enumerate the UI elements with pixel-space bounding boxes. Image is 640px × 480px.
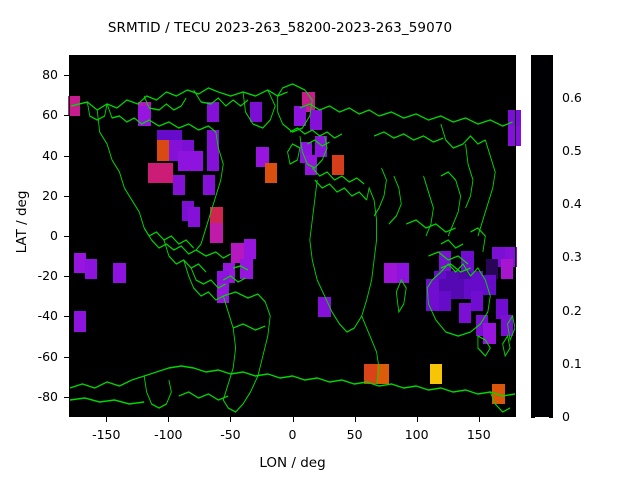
y-tick-mark (64, 196, 69, 197)
x-tick-label: 0 (263, 427, 323, 442)
y-tick-label: -60 (12, 349, 58, 364)
colorbar-tick-mark (549, 257, 553, 258)
coastline-overlay (70, 56, 515, 416)
colorbar-tick-mark (531, 311, 535, 312)
y-tick-mark (64, 316, 69, 317)
y-tick-label: -40 (12, 308, 58, 323)
colorbar-tick-mark (531, 257, 535, 258)
y-tick-label: 80 (12, 67, 58, 82)
colorbar-tick-label: 0.4 (562, 196, 582, 211)
figure-root: SRMTID / TECU 2023-263_58200-2023-263_59… (0, 0, 640, 480)
colorbar-tick-label: 0 (562, 409, 570, 424)
colorbar-tick-label: 0.2 (562, 303, 582, 318)
y-tick-mark (64, 115, 69, 116)
x-tick-label: -100 (138, 427, 198, 442)
colorbar-tick-mark (549, 364, 553, 365)
colorbar-tick-mark (531, 98, 535, 99)
colorbar-tick-mark (531, 204, 535, 205)
colorbar-tick-mark (549, 311, 553, 312)
x-tick-mark (168, 417, 169, 422)
colorbar-tick-mark (549, 417, 553, 418)
colorbar-tick-label: 0.3 (562, 249, 582, 264)
figure-title: SRMTID / TECU 2023-263_58200-2023-263_59… (0, 20, 560, 36)
colorbar (531, 55, 553, 417)
colorbar-tick-mark (549, 204, 553, 205)
x-tick-label: 150 (449, 427, 509, 442)
x-tick-label: -150 (76, 427, 136, 442)
y-axis-title: LAT / deg (14, 152, 30, 292)
colorbar-tick-mark (531, 364, 535, 365)
x-tick-mark (230, 417, 231, 422)
y-tick-label: 60 (12, 107, 58, 122)
x-tick-mark (417, 417, 418, 422)
x-tick-label: 100 (387, 427, 447, 442)
x-axis-title: LON / deg (69, 455, 516, 471)
colorbar-tick-mark (549, 151, 553, 152)
map-plot-area (69, 55, 516, 417)
colorbar-gradient (532, 56, 552, 416)
x-tick-mark (355, 417, 356, 422)
y-tick-mark (64, 156, 69, 157)
y-tick-mark (64, 75, 69, 76)
colorbar-tick-label: 0.5 (562, 143, 582, 158)
y-tick-mark (64, 276, 69, 277)
x-tick-label: 50 (325, 427, 385, 442)
x-tick-mark (106, 417, 107, 422)
colorbar-tick-mark (531, 417, 535, 418)
y-tick-mark (64, 357, 69, 358)
x-tick-mark (293, 417, 294, 422)
colorbar-tick-mark (531, 151, 535, 152)
colorbar-tick-label: 0.6 (562, 90, 582, 105)
x-tick-mark (479, 417, 480, 422)
y-tick-mark (64, 397, 69, 398)
colorbar-tick-mark (549, 98, 553, 99)
y-tick-label: -80 (12, 389, 58, 404)
y-tick-mark (64, 236, 69, 237)
colorbar-tick-label: 0.1 (562, 356, 582, 371)
x-tick-label: -50 (200, 427, 260, 442)
